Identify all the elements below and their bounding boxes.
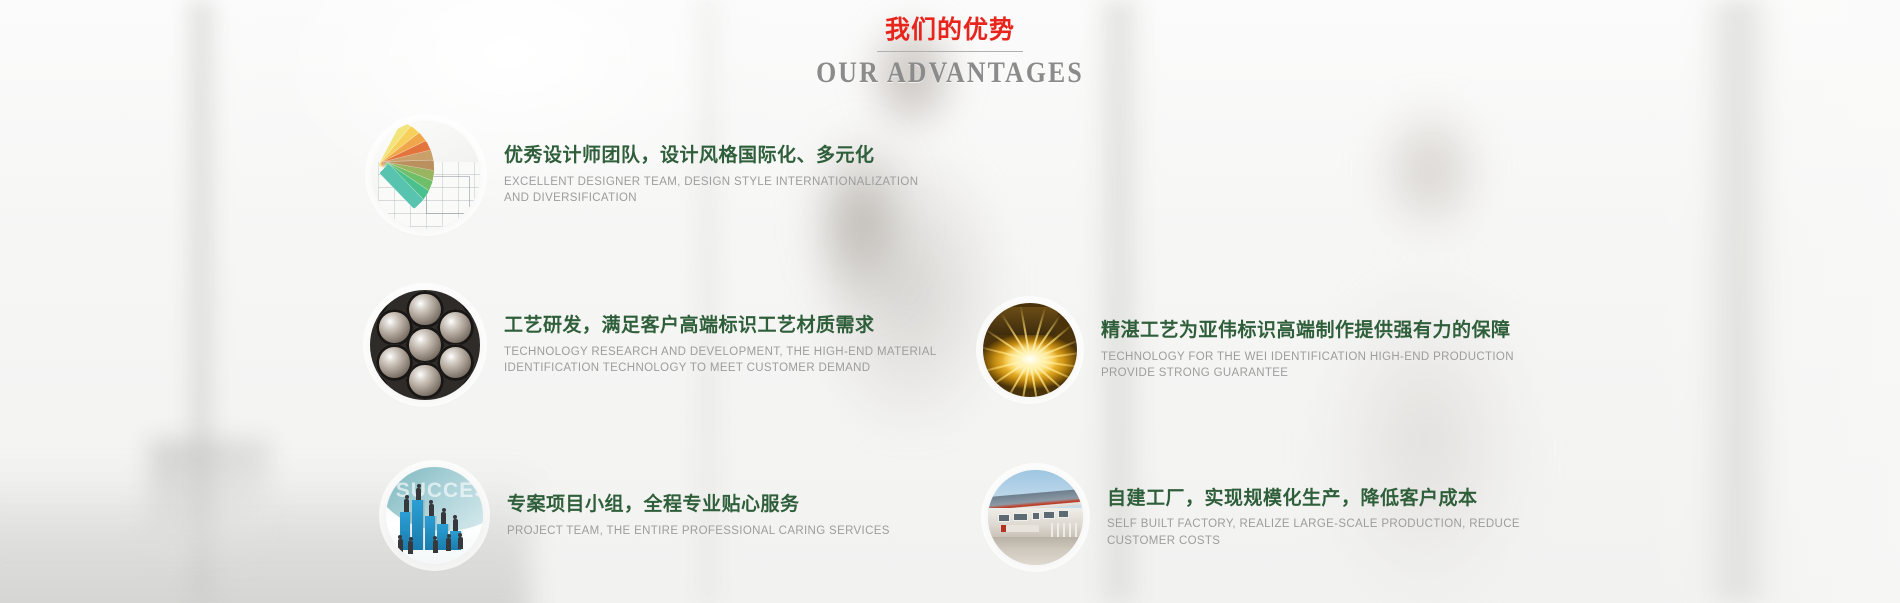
business-success-chart-icon: SUCCESS <box>386 467 483 564</box>
advantage-heading-cn: 专案项目小组，全程专业贴心服务 <box>507 492 890 518</box>
advantage-item-4[interactable]: SUCCESS 专案项目小组，全程专业贴心服务 PROJECT TEAM <box>386 467 890 564</box>
advantage-heading-en: TECHNOLOGY FOR THE WEI IDENTIFICATION HI… <box>1101 349 1514 382</box>
advantage-heading-cn: 精湛工艺为亚伟标识高端制作提供强有力的保障 <box>1101 318 1514 344</box>
advantage-item-2[interactable]: 工艺研发，满足客户高端标识工艺材质需求 TECHNOLOGY RESEARCH … <box>370 290 936 400</box>
color-swatch-blueprint-icon <box>372 121 480 229</box>
advantage-heading-cn: 工艺研发，满足客户高端标识工艺材质需求 <box>504 313 936 339</box>
advantage-heading-cn: 自建工厂，实现规模化生产，降低客户成本 <box>1107 486 1520 512</box>
background-image <box>0 0 1900 603</box>
advantage-heading-en: PROJECT TEAM, THE ENTIRE PROFESSIONAL CA… <box>507 523 890 539</box>
background-laptop <box>150 440 270 560</box>
section-title-cn: 我们的优势 <box>0 14 1900 45</box>
advantage-heading-en: EXCELLENT DESIGNER TEAM, DESIGN STYLE IN… <box>504 174 918 207</box>
advantage-item-1[interactable]: 优秀设计师团队，设计风格国际化、多元化 EXCELLENT DESIGNER T… <box>372 121 918 229</box>
advantage-heading-en: TECHNOLOGY RESEARCH AND DEVELOPMENT, THE… <box>504 344 936 377</box>
success-watermark: SUCCESS <box>396 479 483 503</box>
background-vignette <box>1640 0 1900 603</box>
advantage-heading-cn: 优秀设计师团队，设计风格国际化、多元化 <box>504 143 918 169</box>
steel-pipe-bundle-icon <box>370 290 480 400</box>
advantage-item-5[interactable]: 自建工厂，实现规模化生产，降低客户成本 SELF BUILT FACTORY, … <box>988 470 1520 565</box>
title-divider <box>877 51 1023 52</box>
laser-cutting-sparks-icon <box>983 303 1077 397</box>
section-title-en: OUR ADVANTAGES <box>133 56 1767 90</box>
section-header: 我们的优势 OUR ADVANTAGES <box>0 14 1900 90</box>
advantages-section: 我们的优势 OUR ADVANTAGES <box>0 0 1900 603</box>
advantage-item-3[interactable]: 精湛工艺为亚伟标识高端制作提供强有力的保障 TECHNOLOGY FOR THE… <box>983 303 1514 397</box>
factory-building-icon <box>988 470 1083 565</box>
advantage-heading-en: SELF BUILT FACTORY, REALIZE LARGE-SCALE … <box>1107 516 1520 549</box>
